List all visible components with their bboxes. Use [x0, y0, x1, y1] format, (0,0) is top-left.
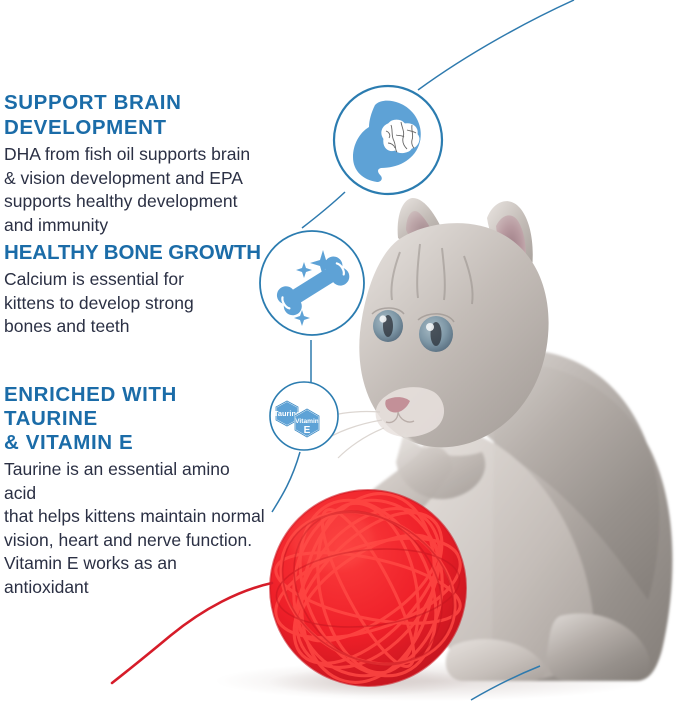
feature-heading: HEALTHY BONE GROWTH	[4, 240, 272, 265]
feature-body: Calcium is essential for kittens to deve…	[4, 268, 272, 339]
feature-body: DHA from fish oil supports brain & visio…	[4, 143, 340, 237]
feature-block-enriched-with-taurine-vitamin-e: ENRICHED WITH TAURINE & VITAMIN E Taurin…	[4, 383, 266, 599]
infographic-canvas: Taurine Vitamin E SUPPORT BRAIN DEVELOPM…	[0, 0, 679, 701]
feature-heading: SUPPORT BRAIN DEVELOPMENT	[4, 90, 340, 140]
feature-block-healthy-bone-growth: HEALTHY BONE GROWTH Calcium is essential…	[4, 240, 272, 339]
feature-heading: ENRICHED WITH TAURINE & VITAMIN E	[4, 383, 266, 455]
feature-block-support-brain-development: SUPPORT BRAIN DEVELOPMENT DHA from fish …	[4, 90, 340, 237]
feature-text-layer: SUPPORT BRAIN DEVELOPMENT DHA from fish …	[0, 0, 679, 701]
feature-body: Taurine is an essential amino acid that …	[4, 458, 266, 599]
